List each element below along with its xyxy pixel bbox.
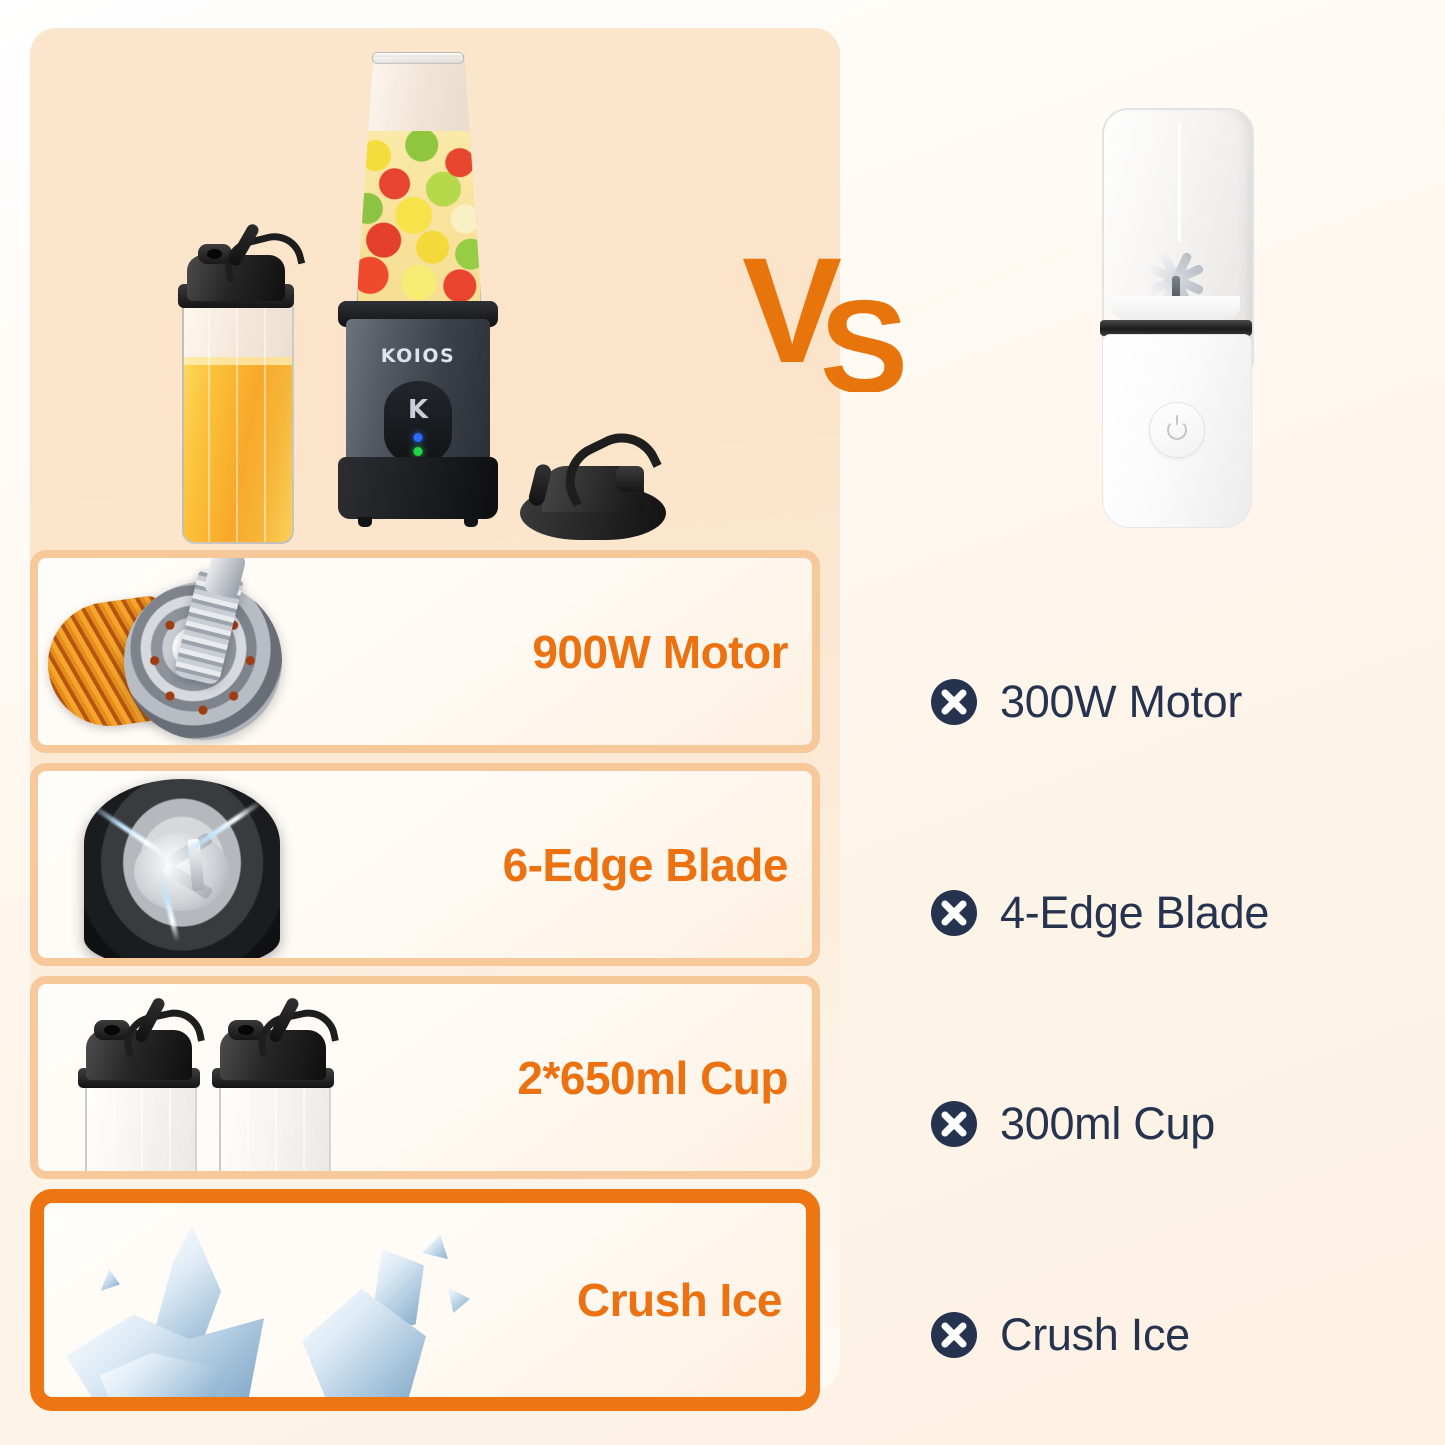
motor-cutaway-icon [38, 558, 440, 745]
fruit-chunks [356, 131, 482, 307]
orange-juice-fill [184, 357, 292, 542]
x-circle-icon [930, 1100, 978, 1148]
feature-card-ice: Crush Ice [30, 1189, 820, 1411]
spare-lid [520, 400, 666, 540]
bottle-inner-base [1112, 296, 1240, 320]
feature-label-blade: 6-Edge Blade [503, 838, 788, 892]
comparison-row-motor: 300W Motor [930, 596, 1430, 807]
two-cups-icon [38, 984, 440, 1171]
blender-foot-right [464, 517, 478, 527]
feature-card-cup: 2*650ml Cup [30, 976, 820, 1179]
comparison-label-cup: 300ml Cup [1000, 1098, 1215, 1150]
power-icon [1167, 420, 1187, 440]
brand-label: KOIOS [346, 345, 490, 367]
blender-jar-rim [372, 52, 464, 64]
blender-unit: KOIOS K [338, 55, 498, 535]
blender-foot-left [358, 517, 372, 527]
k-logo-icon: K [408, 395, 428, 425]
x-circle-icon [930, 678, 978, 726]
blender-motor-body: KOIOS K [346, 319, 490, 469]
comparison-label-blade: 4-Edge Blade [1000, 887, 1269, 939]
comparison-row-blade: 4-Edge Blade [930, 807, 1430, 1018]
left-product-image: KOIOS K [150, 45, 710, 535]
comparison-row-ice: Crush Ice [930, 1229, 1430, 1440]
comparison-label-ice: Crush Ice [1000, 1309, 1190, 1361]
crushed-ice-icon [44, 1203, 440, 1397]
green-led-indicator [414, 447, 423, 456]
feature-label-motor: 900W Motor [532, 625, 788, 679]
juice-cup-body [182, 292, 294, 544]
feature-card-stack: 900W Motor 6-Edge Blade [30, 550, 820, 1411]
x-circle-icon [930, 889, 978, 937]
blender-jar [356, 55, 482, 309]
feature-card-motor: 900W Motor [30, 550, 820, 753]
blade-assembly-icon [38, 771, 440, 958]
juice-cup [178, 250, 294, 540]
comparison-list: 300W Motor 4-Edge Blade 300ml Cup [930, 596, 1430, 1440]
blender-base [338, 457, 498, 519]
x-circle-icon [930, 1311, 978, 1359]
right-product-image [1090, 108, 1262, 528]
control-panel: K [384, 381, 452, 465]
blue-led-indicator [414, 433, 423, 442]
comparison-label-motor: 300W Motor [1000, 676, 1242, 728]
comparison-infographic: KOIOS K V S [0, 0, 1445, 1445]
comparison-row-cup: 300ml Cup [930, 1018, 1430, 1229]
portable-blender-base [1102, 334, 1252, 528]
power-button[interactable] [1150, 403, 1204, 457]
feature-card-blade: 6-Edge Blade [30, 763, 820, 966]
feature-label-ice: Crush Ice [577, 1273, 782, 1327]
feature-label-cup: 2*650ml Cup [517, 1051, 788, 1105]
